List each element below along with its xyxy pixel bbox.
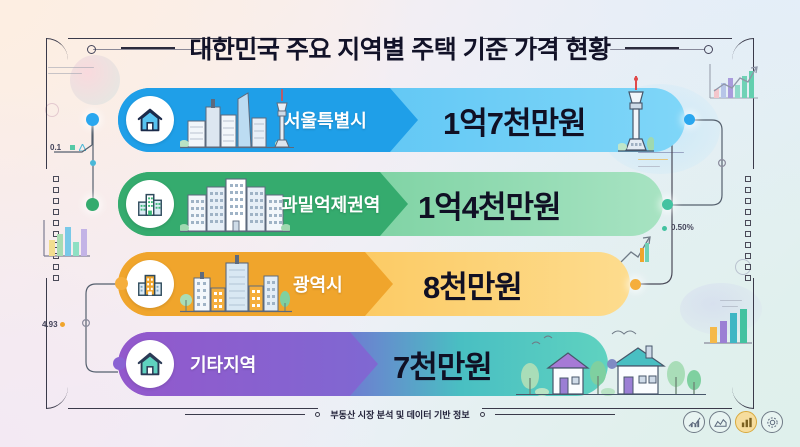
chart-toolbar[interactable] — [683, 411, 783, 433]
apartment-icon — [126, 180, 174, 228]
office-building-icon — [126, 260, 174, 308]
gear-icon[interactable] — [761, 411, 783, 433]
connector-dot-row1-left — [86, 113, 99, 126]
data-row-overcrowding-zone[interactable]: 과밀억제권역 1억4천만원 — [118, 172, 663, 236]
footer-block: 부동산 시장 분석 및 데이터 기반 정보 — [0, 408, 800, 421]
page-title: 대한민국 주요 지역별 주택 기준 가격 현황 — [189, 30, 610, 66]
row-value-label: 1억4천만원 — [418, 182, 561, 227]
footer-rule-left — [185, 414, 305, 415]
title-rule-right — [625, 47, 679, 49]
footer-dot-left — [315, 412, 320, 417]
connector-dot-row2-right — [662, 199, 673, 210]
bar-chart-icon[interactable] — [735, 411, 757, 433]
trend-chart-icon[interactable] — [683, 411, 705, 433]
house-icon — [126, 96, 174, 144]
footer-text: 부동산 시장 분석 및 데이터 기반 정보 — [330, 408, 469, 421]
row-value-label: 1억7천만원 — [443, 98, 586, 143]
footer-rule-right — [495, 414, 615, 415]
apartment-blocks — [180, 173, 290, 233]
infographic-canvas: 0.1 4.93 0.50% — [0, 0, 800, 447]
home-icon — [126, 340, 174, 388]
row-value-label: 8천만원 — [423, 262, 522, 307]
title-rule-left — [121, 47, 175, 49]
footer-dot-right — [480, 412, 485, 417]
annotation-right-dot-green — [662, 226, 667, 231]
area-chart-icon[interactable] — [709, 411, 731, 433]
row-region-label: 과밀억제권역 — [281, 191, 380, 217]
row-region-label: 광역시 — [293, 271, 343, 297]
midrise-skyline — [180, 253, 292, 313]
data-row-metropolitan-city[interactable]: 광역시 8천만원 — [118, 252, 630, 316]
data-row-seoul[interactable]: 서울특별시 1억7천만원 — [118, 88, 685, 152]
annotation-left-dot-orange — [60, 322, 65, 327]
row-region-label: 기타지역 — [190, 351, 256, 377]
row-value-label: 7천만원 — [393, 342, 492, 387]
page-title-block: 대한민국 주요 지역별 주택 기준 가격 현황 — [0, 30, 800, 66]
connector-dot-row1-right — [684, 114, 695, 125]
connector-dot-row3-right — [630, 279, 641, 290]
connector-dot-row3-left — [115, 277, 128, 290]
seoul-tower-icon — [618, 76, 654, 152]
connector-dot-row4-left — [113, 357, 126, 370]
connector-dot-row4-right — [607, 359, 617, 369]
connector-dot-row2-left — [86, 198, 99, 211]
row-region-label: 서울특별시 — [284, 107, 367, 133]
